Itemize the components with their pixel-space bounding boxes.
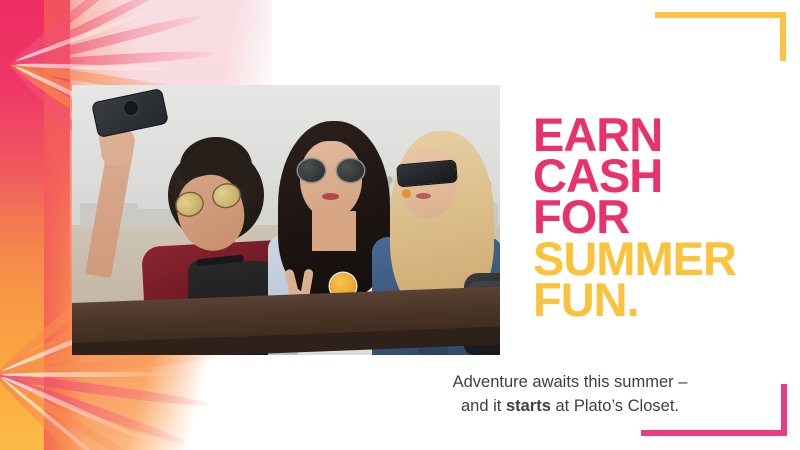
tagline: Adventure awaits this summer – and it st… [400,371,740,419]
tagline-line-2: and it starts at Plato’s Closet. [400,395,740,419]
promo-poster: EARN CASH FOR SUMMER FUN. Adventure awai… [0,0,800,450]
corner-bracket-bottom-right-vertical [781,384,787,436]
tagline-line-2-before: and it [461,397,506,415]
tagline-line-1: Adventure awaits this summer – [400,371,740,395]
corner-bracket-bottom-right-horizontal [641,430,787,436]
hero-photo [72,85,500,355]
corner-bracket-top-right-vertical [780,12,786,61]
tagline-emphasis: starts [506,397,551,415]
corner-bracket-top-right-horizontal [655,12,786,18]
tagline-line-2-after: at Plato’s Closet. [551,397,679,415]
headline: EARN CASH FOR SUMMER FUN. [533,113,736,319]
